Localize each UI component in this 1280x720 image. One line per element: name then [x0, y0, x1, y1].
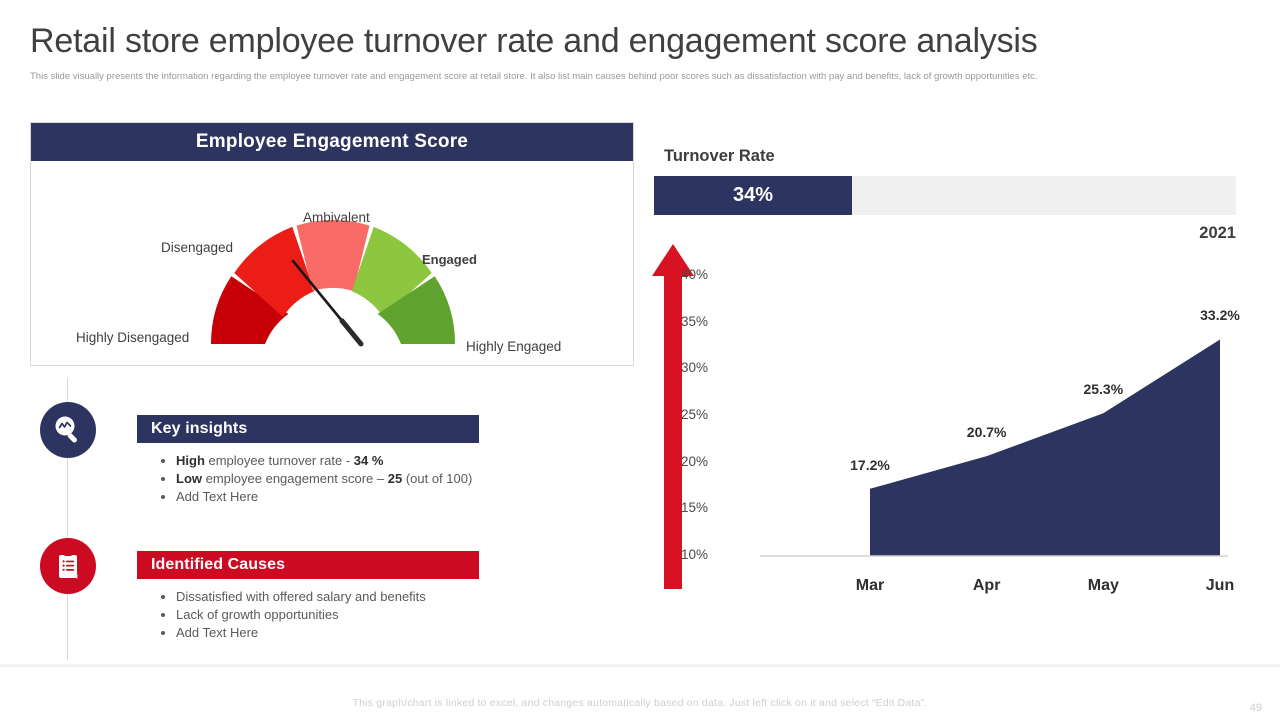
- identified-causes-heading: Identified Causes: [137, 551, 479, 579]
- list-item: Add Text Here: [176, 488, 472, 506]
- bullet-bold-suffix: 34 %: [354, 453, 384, 468]
- data-label: 17.2%: [835, 457, 905, 473]
- y-tick-label: 35%: [664, 314, 708, 329]
- y-tick-label: 20%: [664, 454, 708, 469]
- slide-root: Retail store employee turnover rate and …: [0, 0, 1280, 720]
- y-tick-label: 10%: [664, 547, 708, 562]
- y-tick-label: 30%: [664, 360, 708, 375]
- x-tick-label: May: [1073, 577, 1133, 595]
- engagement-gauge-card: Employee Engagement Score Ambivalent Dis…: [30, 122, 634, 366]
- gauge-label-disengaged: Disengaged: [161, 240, 233, 255]
- turnover-area-chart: Percentage of Total Employees 10%15%20%2…: [648, 230, 1248, 590]
- page-title: Retail store employee turnover rate and …: [30, 20, 1230, 62]
- list-item: Low employee engagement score – 25 (out …: [176, 470, 472, 488]
- turnover-rate-value: 34%: [733, 184, 773, 207]
- gauge-body: Ambivalent Disengaged Highly Disengaged …: [31, 161, 633, 366]
- bullet-bold-suffix: 25: [388, 471, 402, 486]
- gauge-card-title: Employee Engagement Score: [31, 123, 633, 161]
- bullet-tail: (out of 100): [402, 471, 472, 486]
- area-plot-svg: [708, 244, 1228, 589]
- list-item: Dissatisfied with offered salary and ben…: [176, 588, 426, 606]
- bullet-bold-prefix: Low: [176, 471, 202, 486]
- key-insights-heading: Key insights: [137, 415, 479, 443]
- bullet-text: employee engagement score –: [202, 471, 388, 486]
- list-item: High employee turnover rate - 34 %: [176, 452, 472, 470]
- data-label: 33.2%: [1185, 307, 1255, 323]
- bullet-bold-prefix: High: [176, 453, 205, 468]
- list-item: Add Text Here: [176, 624, 426, 642]
- x-tick-label: Mar: [840, 577, 900, 595]
- y-tick-label: 25%: [664, 407, 708, 422]
- gauge-label-engaged: Engaged: [422, 252, 477, 267]
- clipboard-icon: [51, 549, 85, 583]
- x-tick-label: Apr: [957, 577, 1017, 595]
- identified-causes-icon-badge: [40, 538, 96, 594]
- bullet-text: Add Text Here: [176, 489, 258, 504]
- page-number: 49: [1250, 702, 1262, 714]
- data-label: 20.7%: [952, 424, 1022, 440]
- footer-note: This graph/chart is linked to excel, and…: [0, 697, 1280, 709]
- page-subtitle: This slide visually presents the informa…: [30, 71, 1212, 84]
- x-tick-label: Jun: [1190, 577, 1250, 595]
- turnover-rate-fill: 34%: [654, 176, 852, 215]
- bullet-text: employee turnover rate -: [205, 453, 354, 468]
- gauge-label-ambivalent: Ambivalent: [303, 210, 370, 225]
- gauge-label-highly-disengaged: Highly Disengaged: [76, 330, 189, 345]
- identified-causes-bullets: Dissatisfied with offered salary and ben…: [160, 588, 426, 642]
- key-insights-icon-badge: [40, 402, 96, 458]
- magnifier-chart-icon: [51, 413, 85, 447]
- area-series-shape: [870, 340, 1220, 557]
- y-tick-label: 40%: [664, 267, 708, 282]
- turnover-rate-label: Turnover Rate: [664, 147, 775, 166]
- data-label: 25.3%: [1068, 381, 1138, 397]
- list-item: Lack of growth opportunities: [176, 606, 426, 624]
- gauge-label-highly-engaged: Highly Engaged: [466, 339, 561, 354]
- turnover-rate-track: 34%: [654, 176, 1236, 215]
- key-insights-bullets: High employee turnover rate - 34 % Low e…: [160, 452, 472, 506]
- footer-divider: [0, 664, 1280, 667]
- y-tick-label: 15%: [664, 500, 708, 515]
